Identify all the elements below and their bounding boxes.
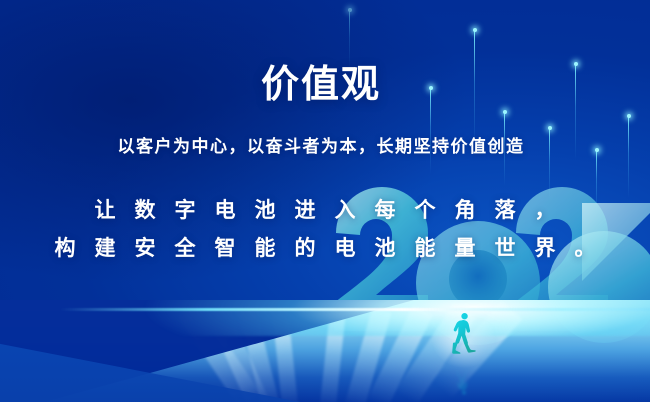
values-poster: 价值观 以客户为中心，以奋斗者为本，长期坚持价值创造 让数字电池进入每个角落， … [0,0,650,402]
page-title: 价值观 [0,62,650,108]
subtitle: 以客户为中心，以奋斗者为本，长期坚持价值创造 [0,135,650,159]
body-line-2: 构建安全智能的电池能量世界。 [0,234,650,264]
body-line-1: 让数字电池进入每个角落， [0,196,650,226]
text-content: 价值观 以客户为中心，以奋斗者为本，长期坚持价值创造 让数字电池进入每个角落， … [0,0,650,402]
